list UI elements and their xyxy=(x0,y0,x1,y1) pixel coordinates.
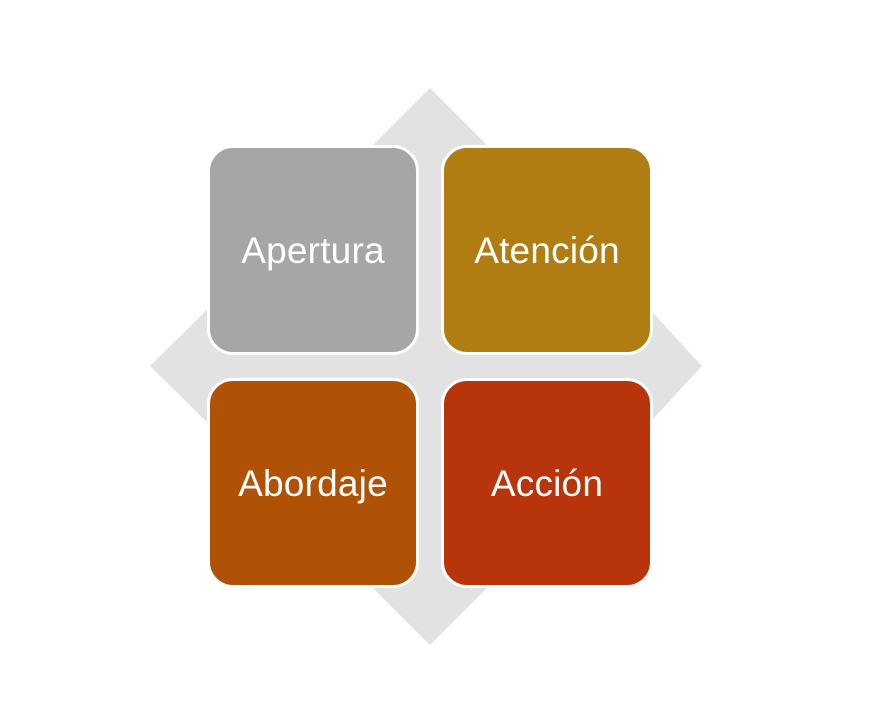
matrix-grid: Apertura Atención Abordaje Acción xyxy=(207,145,653,588)
matrix-cell-abordaje[interactable]: Abordaje xyxy=(207,378,419,588)
matrix-cell-apertura[interactable]: Apertura xyxy=(207,145,419,355)
matrix-cell-label-apertura: Apertura xyxy=(241,232,385,269)
matrix-cell-accion[interactable]: Acción xyxy=(441,378,653,588)
matrix-cell-label-atencion: Atención xyxy=(474,232,620,269)
matrix-cell-label-abordaje: Abordaje xyxy=(238,465,388,502)
matrix-cell-atencion[interactable]: Atención xyxy=(441,145,653,355)
diagram-canvas: Apertura Atención Abordaje Acción xyxy=(0,0,890,702)
matrix-cell-label-accion: Acción xyxy=(491,465,603,502)
